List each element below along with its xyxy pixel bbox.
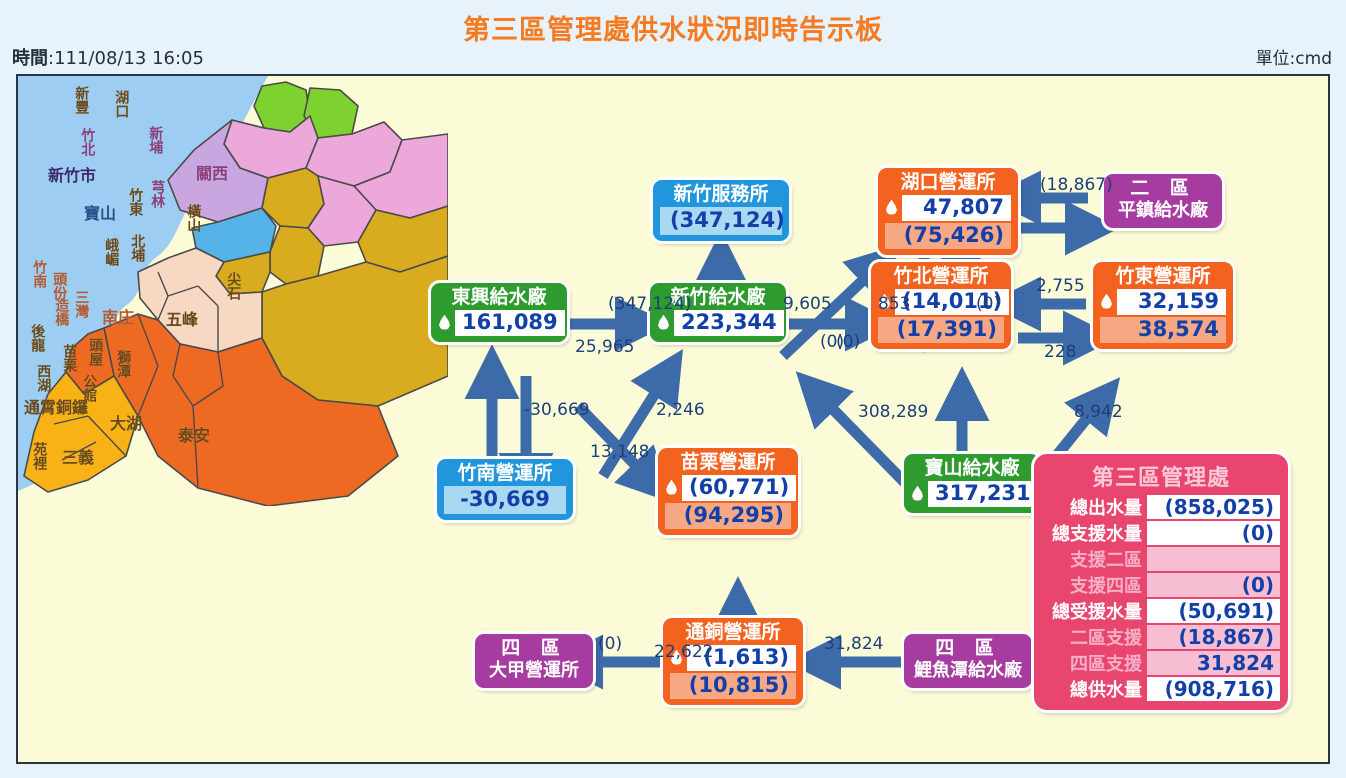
node-value-secondary: (17,391): [878, 317, 1004, 343]
node-value: 223,344: [674, 310, 784, 336]
node-value-secondary: 38,574: [1100, 317, 1226, 343]
flow-label-tongluo-to-miaoli: 22,622: [654, 642, 713, 662]
water-drop-icon: [885, 199, 898, 218]
flow-label-hsinchu-to-miaoli: 13,148: [590, 442, 649, 462]
node-title: 竹北營運所: [878, 266, 1004, 287]
flow-label-tongluo-to-dajia: (0): [598, 634, 622, 654]
node-value: (347,124): [660, 207, 782, 235]
flow-label-hukou-to-pingzhen: (18,867): [1040, 175, 1113, 195]
summary-panel: 第三區管理處 總出水量 (858,025) 總支援水量 (0) 支援二區 支援四…: [1034, 454, 1288, 710]
summary-row-support-zone4: 支援四區 (0): [1042, 572, 1280, 597]
node-value: 317,231: [928, 481, 1038, 507]
node-value-secondary: (94,295): [665, 503, 791, 529]
summary-value: (50,691): [1147, 599, 1280, 623]
flow-label-hsinchu-to-office: (347,124): [608, 294, 692, 314]
node-title: 新竹服務所: [660, 184, 782, 205]
node-title: 四 區: [911, 638, 1025, 659]
node-hsinchu-service-office[interactable]: 新竹服務所 (347,124): [653, 180, 789, 241]
node-title: 寶山給水廠: [911, 458, 1033, 479]
node-title: 苗栗營運所: [665, 452, 791, 473]
water-drop-icon: [438, 314, 451, 333]
page-title: 第三區管理處供水狀況即時告示板: [0, 8, 1346, 47]
summary-label: 總出水量: [1042, 494, 1147, 520]
node-title: 竹南營運所: [444, 463, 566, 484]
summary-label: 四區支援: [1042, 650, 1147, 676]
summary-value: (908,716): [1147, 677, 1280, 701]
flow-label-baoshan-to-zhudong: 8,942: [1074, 402, 1123, 422]
node-zhudong-operation-office[interactable]: 竹東營運所 32,159 38,574: [1093, 262, 1233, 349]
node-value: 32,159: [1117, 289, 1226, 315]
node-subtitle: 大甲營運所: [482, 660, 586, 682]
node-value: (60,771): [682, 475, 796, 501]
board-canvas: 新豐 湖口 竹北 新埔 關西 新竹市 芎林 寶山 竹東 橫山 北埔 峨嵋 五峰 …: [16, 74, 1330, 764]
flow-label-liyutan-to-tongluo: 31,824: [824, 634, 883, 654]
node-value: 47,807: [902, 195, 1011, 221]
summary-row-total-supply: 總供水量 (908,716): [1042, 676, 1280, 701]
summary-title: 第三區管理處: [1042, 460, 1280, 492]
flow-label-miaoli-to-hsinchu: 2,246: [656, 400, 705, 420]
summary-value: (18,867): [1147, 625, 1280, 649]
node-miaoli-operation-office[interactable]: 苗栗營運所 (60,771) (94,295): [658, 448, 798, 535]
summary-label: 支援二區: [1042, 546, 1147, 572]
node-title: 通銅營運所: [670, 622, 796, 643]
flow-label-baoshan-to-zhubei: (0): [836, 332, 860, 352]
summary-label: 總供水量: [1042, 676, 1147, 702]
flow-label-zhubei-to-hukou: (0): [976, 294, 1000, 314]
summary-label: 總受援水量: [1042, 598, 1147, 624]
water-drop-icon: [911, 485, 924, 504]
node-subtitle: 平鎮給水廠: [1111, 200, 1215, 222]
node-baoshan-plant[interactable]: 寶山給水廠 317,231: [904, 454, 1040, 513]
summary-label: 二區支援: [1042, 624, 1147, 650]
unit-label: 單位:cmd: [1256, 44, 1332, 69]
summary-label: 總支援水量: [1042, 520, 1147, 546]
summary-value: (0): [1147, 521, 1280, 545]
flow-label-baoshan-to-hsinchu: 308,289: [858, 402, 928, 422]
timestamp: 時間:111/08/13 16:05: [12, 44, 204, 70]
summary-label: 支援四區: [1042, 572, 1147, 598]
summary-row-from-zone2: 二區支援 (18,867): [1042, 624, 1280, 649]
summary-row-support-zone2: 支援二區: [1042, 546, 1280, 571]
flow-label-zhunan-to-donghsing: -30,669: [524, 400, 590, 420]
summary-row-total-support: 總支援水量 (0): [1042, 520, 1280, 545]
node-zhunan-operation-office[interactable]: 竹南營運所 -30,669: [437, 459, 573, 520]
summary-value: [1147, 547, 1280, 571]
flow-label-hsinchu-to-hukou: 9,605: [783, 294, 832, 314]
summary-row-total-received: 總受援水量 (50,691): [1042, 598, 1280, 623]
flow-label-zhudong-to-zhubei: 2,755: [1036, 276, 1085, 296]
node-liyutan-plant[interactable]: 四 區 鯉魚潭給水廠: [904, 634, 1032, 688]
node-value-secondary: (75,426): [885, 223, 1011, 249]
node-hukou-operation-office[interactable]: 湖口營運所 47,807 (75,426): [878, 168, 1018, 255]
node-value-secondary: (10,815): [670, 673, 796, 699]
node-dajia-operation-office[interactable]: 四 區 大甲營運所: [475, 634, 593, 688]
flow-label-donghsing-to-hsinchu: 25,965: [575, 337, 634, 357]
flow-label-hukou-to-zhubei: 853: [878, 294, 910, 314]
node-title: 二 區: [1111, 178, 1215, 199]
node-value: 161,089: [455, 310, 565, 336]
summary-value: 31,824: [1147, 651, 1280, 675]
time-label: 時間: [12, 48, 48, 69]
flow-label-zhubei-to-zhudong: 228: [1044, 342, 1076, 362]
node-pingzhen-plant[interactable]: 二 區 平鎮給水廠: [1104, 174, 1222, 228]
summary-row-from-zone4: 四區支援 31,824: [1042, 650, 1280, 675]
summary-row-total-output: 總出水量 (858,025): [1042, 494, 1280, 519]
node-title: 四 區: [482, 638, 586, 659]
node-value: -30,669: [444, 486, 566, 514]
water-drop-icon: [657, 314, 670, 333]
node-subtitle: 鯉魚潭給水廠: [911, 660, 1025, 682]
summary-value: (0): [1147, 573, 1280, 597]
node-title: 東興給水廠: [438, 287, 560, 308]
node-donghsing-plant[interactable]: 東興給水廠 161,089: [431, 283, 567, 342]
node-title: 竹東營運所: [1100, 266, 1226, 287]
node-title: 湖口營運所: [885, 172, 1011, 193]
water-drop-icon: [665, 479, 678, 498]
summary-value: (858,025): [1147, 495, 1280, 519]
time-value: :111/08/13 16:05: [48, 48, 204, 69]
water-drop-icon: [1100, 293, 1113, 312]
